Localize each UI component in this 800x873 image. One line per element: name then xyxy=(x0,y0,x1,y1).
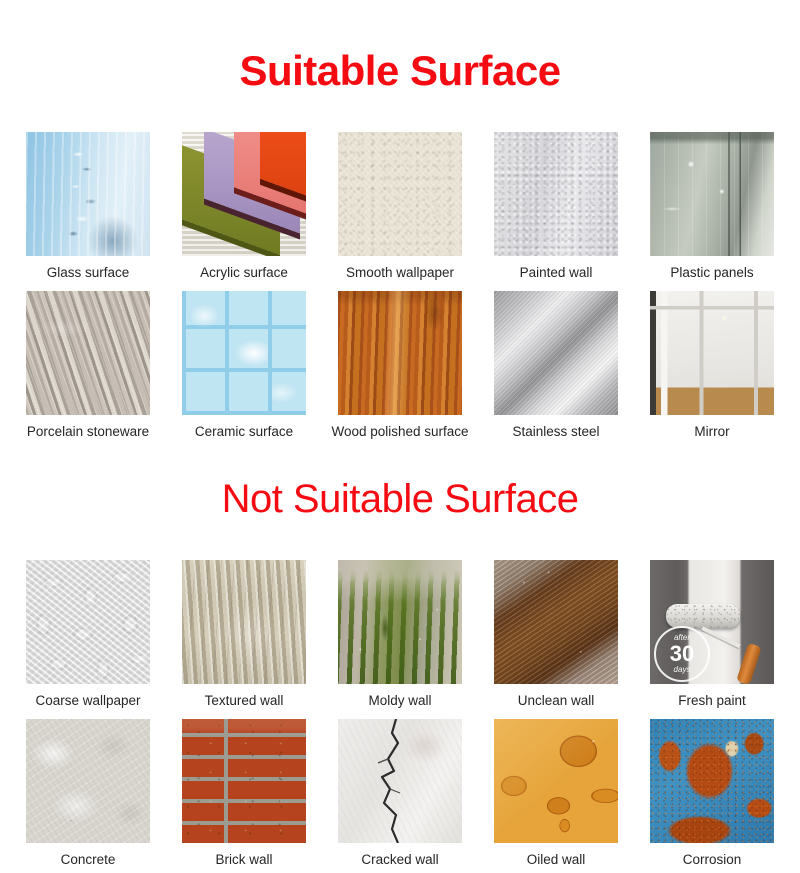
painted-wall-swatch xyxy=(494,132,618,256)
surface-label: Smooth wallpaper xyxy=(346,265,454,281)
not-suitable-surface-grid: Coarse wallpaper Textured wall Moldy wal… xyxy=(10,554,790,872)
surface-item-corrosion: Corrosion xyxy=(634,713,790,872)
badge-number: 30 xyxy=(670,643,694,665)
surface-label: Concrete xyxy=(61,852,116,868)
surface-label: Moldy wall xyxy=(368,693,431,709)
paint-roller-icon xyxy=(666,604,740,628)
textured-wall-swatch xyxy=(182,560,306,684)
surface-item-mirror: Mirror xyxy=(634,285,790,444)
surface-item-unclean-wall: Unclean wall xyxy=(478,554,634,713)
plastic-panels-swatch xyxy=(650,132,774,256)
surface-item-concrete: Concrete xyxy=(10,713,166,872)
surface-item-brick-wall: Brick wall xyxy=(166,713,322,872)
cracked-wall-swatch xyxy=(338,719,462,843)
surface-label: Glass surface xyxy=(47,265,130,281)
surface-label: Plastic panels xyxy=(670,265,753,281)
stainless-steel-swatch xyxy=(494,291,618,415)
surface-item-oiled-wall: Oiled wall xyxy=(478,713,634,872)
fresh-paint-swatch: after 30 days xyxy=(650,560,774,684)
corrosion-swatch xyxy=(650,719,774,843)
oiled-wall-swatch xyxy=(494,719,618,843)
surface-item-acrylic: Acrylic surface xyxy=(166,126,322,285)
surface-item-textured-wall: Textured wall xyxy=(166,554,322,713)
surface-label: Mirror xyxy=(694,424,729,440)
surface-item-painted-wall: Painted wall xyxy=(478,126,634,285)
surface-label: Coarse wallpaper xyxy=(35,693,140,709)
surface-label: Corrosion xyxy=(683,852,742,868)
wood-polished-swatch xyxy=(338,291,462,415)
surface-item-porcelain-stoneware: Porcelain stoneware xyxy=(10,285,166,444)
surface-label: Brick wall xyxy=(215,852,272,868)
surface-label: Ceramic surface xyxy=(195,424,293,440)
surface-item-ceramic: Ceramic surface xyxy=(166,285,322,444)
infographic-page: Suitable Surface Glass surface Acrylic s… xyxy=(0,28,800,828)
acrylic-swatch xyxy=(182,132,306,256)
surface-label: Oiled wall xyxy=(527,852,586,868)
unclean-wall-swatch xyxy=(494,560,618,684)
suitable-surface-grid: Glass surface Acrylic surface Smooth wal… xyxy=(10,126,790,444)
surface-item-smooth-wallpaper: Smooth wallpaper xyxy=(322,126,478,285)
surface-item-fresh-paint: after 30 days Fresh paint xyxy=(634,554,790,713)
concrete-swatch xyxy=(26,719,150,843)
surface-label: Textured wall xyxy=(205,693,284,709)
suitable-section-title: Suitable Surface xyxy=(0,28,800,98)
badge-bottom-text: days xyxy=(674,666,691,674)
surface-label: Acrylic surface xyxy=(200,265,288,281)
brick-wall-swatch xyxy=(182,719,306,843)
ceramic-swatch xyxy=(182,291,306,415)
mirror-swatch xyxy=(650,291,774,415)
surface-label: Wood polished surface xyxy=(331,424,468,440)
surface-item-moldy-wall: Moldy wall xyxy=(322,554,478,713)
smooth-wallpaper-swatch xyxy=(338,132,462,256)
not-suitable-section-title: Not Suitable Surface xyxy=(0,471,800,527)
moldy-wall-swatch xyxy=(338,560,462,684)
after-30-days-badge: after 30 days xyxy=(654,626,710,682)
surface-label: Unclean wall xyxy=(518,693,595,709)
surface-label: Cracked wall xyxy=(361,852,438,868)
paint-roller-handle-icon xyxy=(736,643,762,684)
surface-item-coarse-wallpaper: Coarse wallpaper xyxy=(10,554,166,713)
surface-item-glass: Glass surface xyxy=(10,126,166,285)
glass-swatch xyxy=(26,132,150,256)
surface-item-cracked-wall: Cracked wall xyxy=(322,713,478,872)
porcelain-stoneware-swatch xyxy=(26,291,150,415)
surface-label: Porcelain stoneware xyxy=(27,424,149,440)
surface-label: Fresh paint xyxy=(678,693,746,709)
surface-item-wood-polished: Wood polished surface xyxy=(322,285,478,444)
surface-item-plastic-panels: Plastic panels xyxy=(634,126,790,285)
surface-item-stainless-steel: Stainless steel xyxy=(478,285,634,444)
badge-top-text: after xyxy=(674,634,690,642)
coarse-wallpaper-swatch xyxy=(26,560,150,684)
surface-label: Painted wall xyxy=(520,265,593,281)
surface-label: Stainless steel xyxy=(512,424,599,440)
crack-line-icon xyxy=(338,719,462,843)
